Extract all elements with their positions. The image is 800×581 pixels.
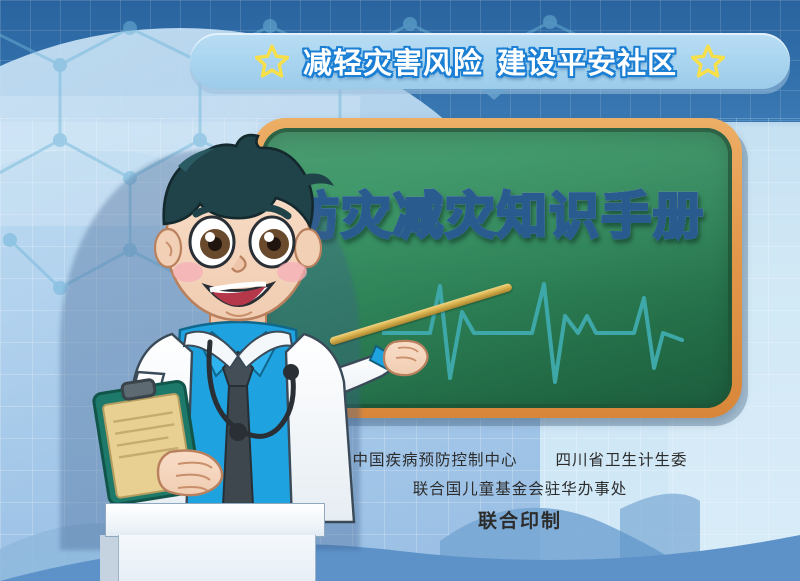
footer-org-left: 中国疾病预防控制中心 — [353, 451, 518, 469]
star-icon-left — [255, 44, 289, 78]
footer-org-unicef: 联合国儿童基金会驻华办事处 — [300, 477, 740, 499]
poster-canvas: 减轻灾害风险 建设平安社区 防灾减灾知识手册 — [0, 0, 800, 581]
banner-headline-left: 减轻灾害风险 — [303, 40, 483, 82]
star-icon-right — [691, 44, 725, 78]
banner-headline-right: 建设平安社区 — [497, 40, 677, 82]
footer-org-right: 四川省卫生计生委 — [555, 451, 687, 469]
footer-print-note: 联合印制 — [300, 506, 740, 533]
podium-side-shadow — [100, 535, 120, 581]
headline-banner: 减轻灾害风险 建设平安社区 — [190, 33, 790, 89]
footer-credits: 中国疾病预防控制中心 四川省卫生计生委 联合国儿童基金会驻华办事处 联合印制 — [300, 448, 740, 533]
podium-body — [118, 535, 316, 581]
podium-top — [105, 503, 325, 537]
